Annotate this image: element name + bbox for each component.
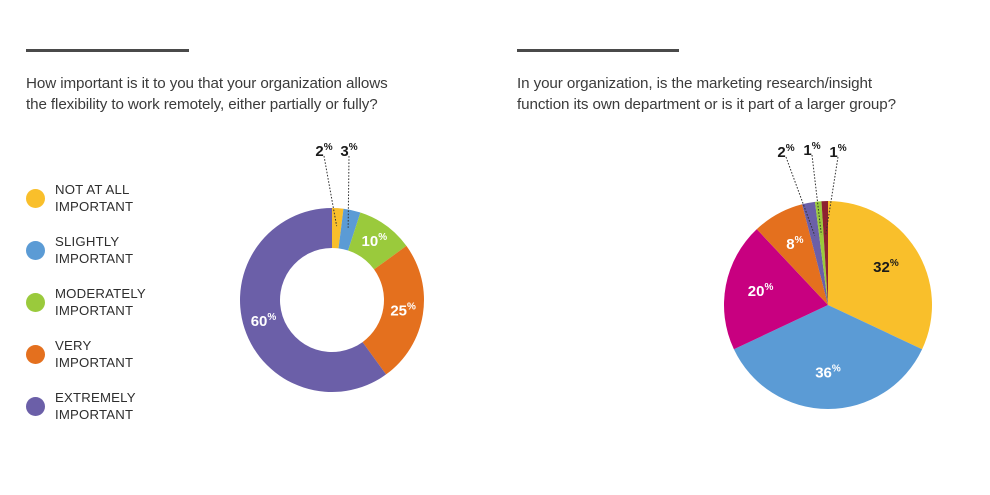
legend-item[interactable]: NOT AT ALL IMPORTANT <box>26 172 146 224</box>
legend-item[interactable]: VERY IMPORTANT <box>26 328 146 380</box>
pie-chart: 32%36%20%8%2%1%1% <box>713 185 943 415</box>
legend-color-swatch-icon <box>26 241 45 260</box>
legend-item-label: VERY IMPORTANT <box>55 337 133 371</box>
page-title: How important is it to you that your org… <box>26 73 466 115</box>
legend-item-label: MODERATELY IMPORTANT <box>55 285 146 319</box>
donut-chart: 2%3%10%25%60% <box>222 190 442 410</box>
legend-color-swatch-icon <box>26 189 45 208</box>
panel-research-function-placement: In your organization, is the marketing r… <box>495 0 990 495</box>
legend-item-label: NOT AT ALL IMPORTANT <box>55 181 133 215</box>
title-rule <box>517 49 679 52</box>
legend-color-swatch-icon <box>26 345 45 364</box>
legend-color-swatch-icon <box>26 397 45 416</box>
chart-legend: NOT AT ALL IMPORTANTSLIGHTLY IMPORTANTMO… <box>26 172 146 432</box>
legend-item[interactable]: SLIGHTLY IMPORTANT <box>26 224 146 276</box>
title-rule <box>26 49 189 52</box>
legend-item-label: EXTREMELY IMPORTANT <box>55 389 136 423</box>
legend-item[interactable]: MODERATELY IMPORTANT <box>26 276 146 328</box>
legend-color-swatch-icon <box>26 293 45 312</box>
page-title: In your organization, is the marketing r… <box>517 73 972 115</box>
panel-remote-work-importance: How important is it to you that your org… <box>0 0 495 495</box>
legend-item-label: SLIGHTLY IMPORTANT <box>55 233 133 267</box>
legend-item[interactable]: EXTREMELY IMPORTANT <box>26 380 146 432</box>
